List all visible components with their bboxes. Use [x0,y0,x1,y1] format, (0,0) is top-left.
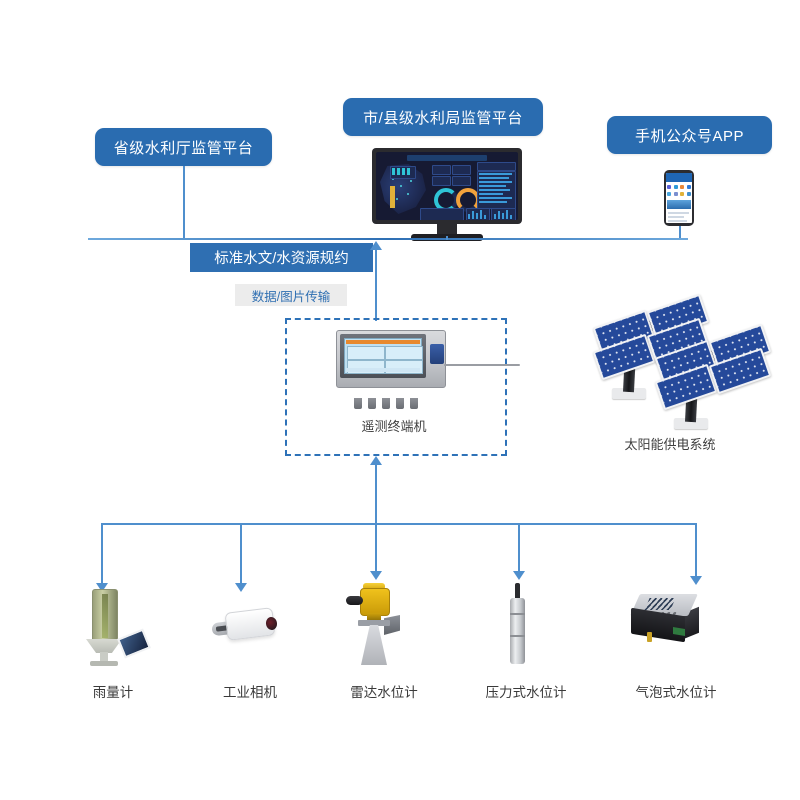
platform-badge-municipal[interactable]: 市/县级水利局监管平台 [343,98,543,136]
rtu-cable-gland [382,398,390,409]
uplink-arrow-icon [370,241,382,250]
radar-level-icon [344,580,414,670]
monitor-screen [376,152,518,220]
protocol-primary-box: 标准水文/水资源规约 [190,243,373,272]
rtu-cable-gland [410,398,418,409]
platform-bus-line [88,238,688,240]
rtu-lcd-screen [344,338,422,374]
arrow-down-icon-bubbler [690,576,702,585]
diagram-canvas: 省级水利厅监管平台 市/县级水利局监管平台 手机公众号APP [0,0,800,800]
solar-label-text: 太阳能供电系统 [624,437,715,452]
sensor-label-industrial-camera: 工业相机 [185,681,315,701]
solar-label: 太阳能供电系统 [590,434,750,453]
rtu-cabinet-icon [336,330,446,400]
rain-gauge-solar-panel-icon [117,629,151,659]
rtu-antenna-icon [444,364,520,366]
sensor-label-radar-level: 雷达水位计 [319,681,449,701]
protocol-secondary-label: 数据/图片传输 [252,286,330,305]
sensor-label-text: 工业相机 [223,685,277,700]
sensor-label-text: 气泡式水位计 [636,685,717,700]
sensor-bus-riser [375,475,377,525]
sensor-label-bubbler-level: 气泡式水位计 [611,681,741,701]
drop-line-pressure [518,523,520,573]
rain-gauge-icon [78,585,148,670]
sensor-label-text: 雨量计 [93,685,134,700]
connector-phone [679,226,681,238]
uplink-line [375,249,377,321]
sensor-bus-line [101,523,696,525]
drop-line-radar [375,523,377,573]
phone-screen [666,173,692,223]
platform-label-provincial: 省级水利厅监管平台 [114,137,254,158]
connector-provincial [183,166,185,238]
bubbler-icon [629,588,719,658]
rtu-label: 遥测终端机 [334,416,454,435]
platform-label-mobile-app: 手机公众号APP [635,125,744,146]
sensor-label-rain-gauge: 雨量计 [48,681,178,701]
sensor-label-text: 雷达水位计 [350,685,418,700]
sensor-uplink-arrow-icon [370,456,382,465]
drop-line-camera [240,523,242,585]
rtu-cable-gland [368,398,376,409]
sensor-uplink-stub [375,465,377,477]
platform-label-municipal: 市/县级水利局监管平台 [363,107,523,128]
monitor-icon [372,148,522,243]
arrow-down-icon-camera [235,583,247,592]
drop-line-rain-gauge [101,523,103,585]
smartphone-icon [664,170,694,226]
drop-line-bubbler [695,523,697,578]
solar-panel-icon [594,300,764,430]
rtu-connector-port [430,344,444,364]
sensor-label-pressure-level: 压力式水位计 [461,681,591,701]
pressure-probe-icon [495,583,545,671]
camera-icon [212,600,287,660]
arrow-down-icon-radar [370,571,382,580]
protocol-primary-label: 标准水文/水资源规约 [214,247,349,268]
rtu-label-text: 遥测终端机 [361,419,426,434]
platform-badge-provincial[interactable]: 省级水利厅监管平台 [95,128,272,166]
rtu-lid [340,334,426,378]
protocol-secondary-box: 数据/图片传输 [235,284,347,306]
arrow-down-icon-pressure [513,571,525,580]
monitor-bezel [372,148,522,224]
rtu-cable-gland [396,398,404,409]
connector-monitor [446,236,448,240]
platform-badge-mobile-app[interactable]: 手机公众号APP [607,116,772,154]
rtu-cable-gland [354,398,362,409]
sensor-label-text: 压力式水位计 [486,685,567,700]
